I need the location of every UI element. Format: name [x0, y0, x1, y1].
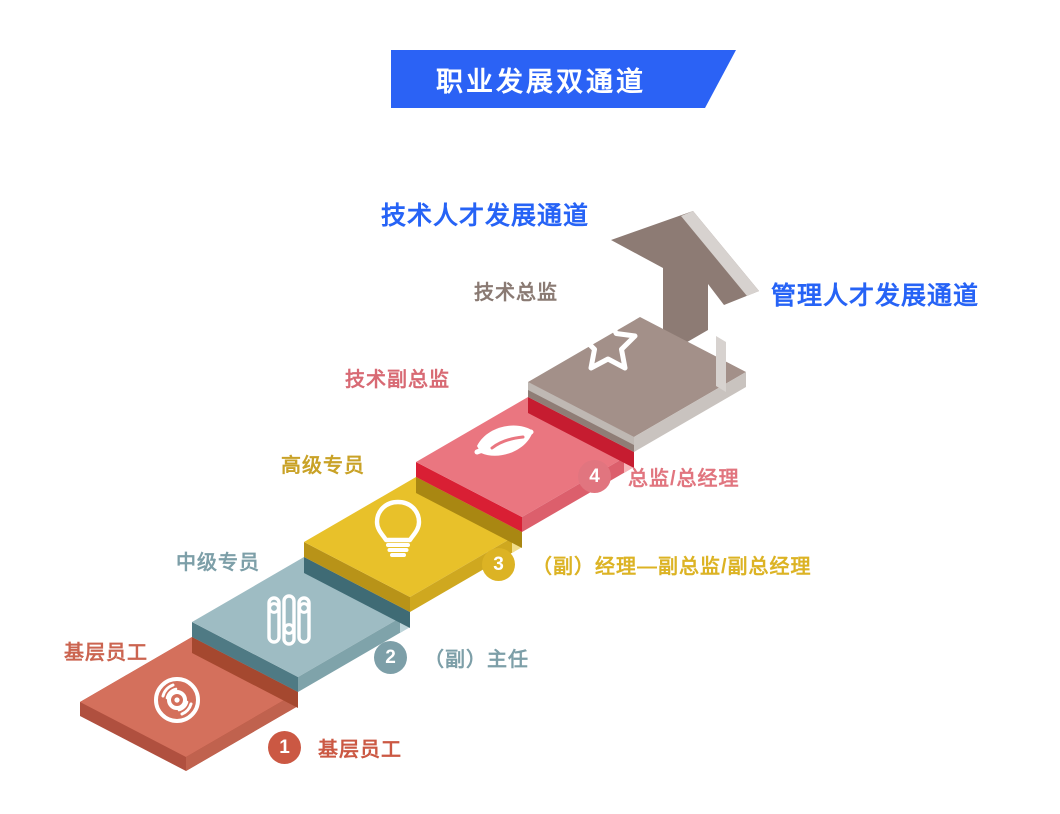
mgmt-badge-3: 3 [482, 548, 515, 581]
infographic-canvas: 职业发展双通道 技术人才发展通道 管理人才发展通道 [0, 0, 1060, 814]
mgmt-row-2: 2 （副）主任 [374, 641, 529, 674]
mgmt-badge-2: 2 [374, 641, 407, 674]
mgmt-row-3: 3 （副）经理—副总监/副总经理 [482, 548, 812, 581]
tech-label-3: 高级专员 [281, 449, 365, 478]
mgmt-badge-4: 4 [578, 460, 611, 493]
mgmt-label-4: 总监/总经理 [628, 462, 740, 491]
tech-label-5: 技术总监 [474, 276, 558, 305]
mgmt-row-4: 4 总监/总经理 [578, 460, 740, 493]
tech-label-1: 基层员工 [64, 636, 148, 665]
mgmt-row-1: 1 基层员工 [268, 731, 402, 764]
tech-label-2: 中级专员 [176, 546, 260, 575]
tech-label-4: 技术副总监 [345, 363, 450, 392]
mgmt-label-3: （副）经理—副总监/副总经理 [532, 550, 812, 579]
mgmt-label-1: 基层员工 [318, 733, 402, 762]
mgmt-label-2: （副）主任 [424, 643, 529, 672]
career-staircase [0, 0, 1060, 814]
step-5-side-edge [716, 336, 726, 392]
mgmt-badge-1: 1 [268, 731, 301, 764]
